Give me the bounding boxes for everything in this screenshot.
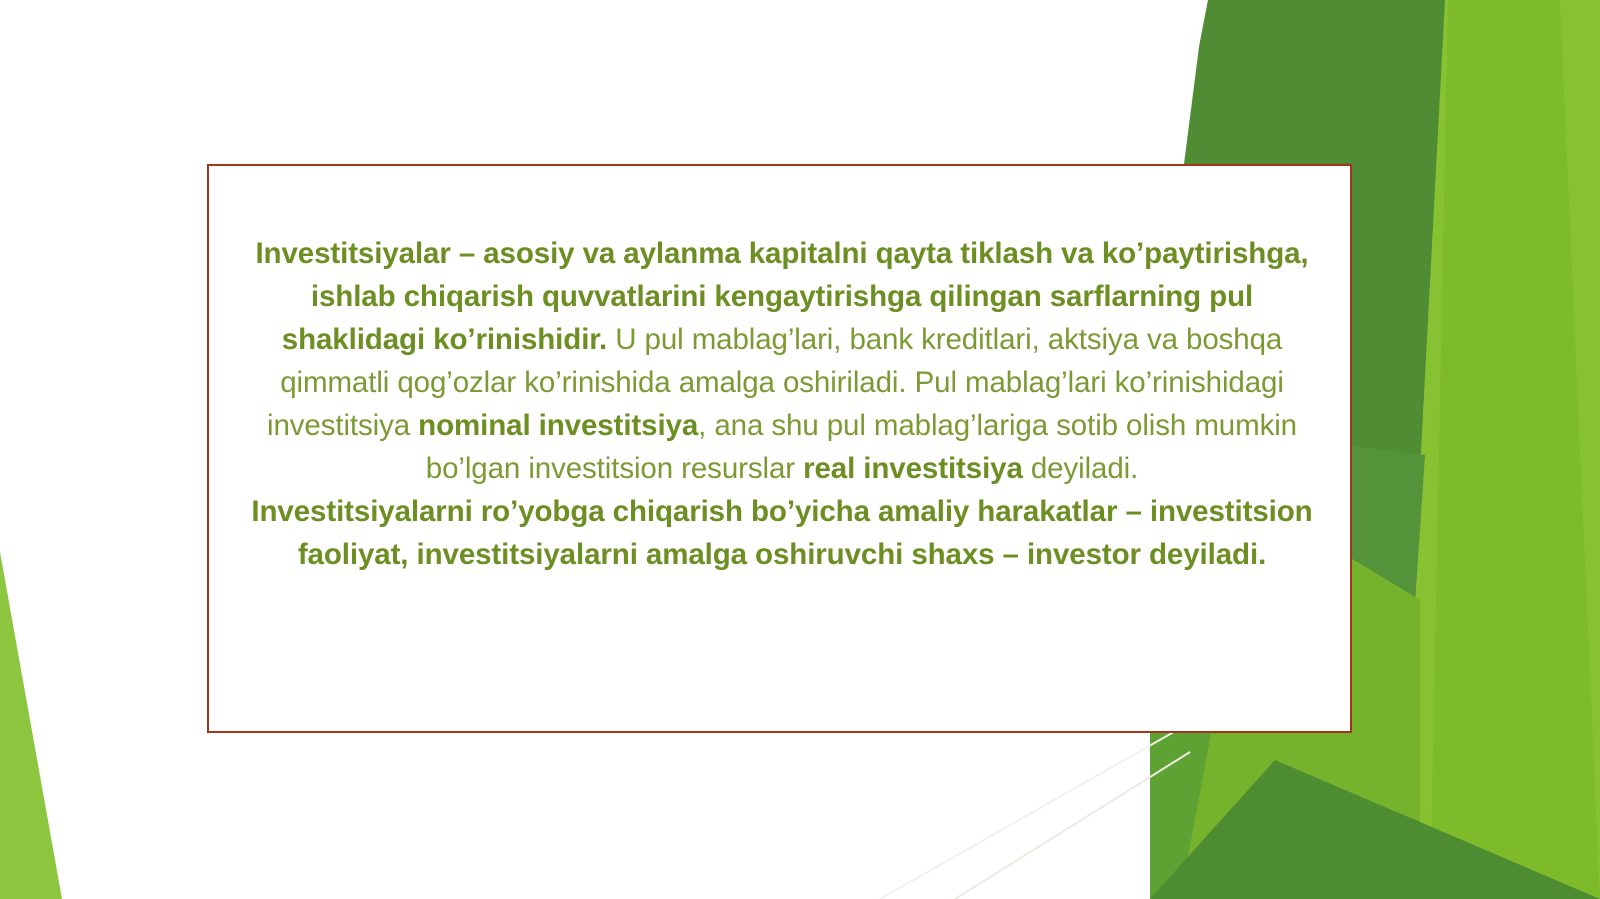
slide-body-text: Investitsiyalar – asosiy va aylanma kapi… <box>247 232 1317 576</box>
text-segment-regular-3: deyiladi. <box>1023 452 1138 485</box>
faint-diagonal-hairline <box>955 752 1190 899</box>
presentation-slide: Investitsiyalar – asosiy va aylanma kapi… <box>0 0 1600 899</box>
content-text-box: Investitsiyalar – asosiy va aylanma kapi… <box>207 164 1352 733</box>
right-bright-green-panel <box>1330 0 1600 899</box>
text-segment-bold-nominal: nominal investitsiya <box>418 409 698 442</box>
text-segment-bold-real: real investitsiya <box>803 452 1023 485</box>
left-green-wedge <box>0 552 62 899</box>
right-light-green-band <box>1430 0 1600 899</box>
lower-dark-green-diagonal <box>1150 760 1600 899</box>
text-segment-bold-activity: Investitsiyalarni ro’yobga chiqarish bo’… <box>251 495 1312 571</box>
